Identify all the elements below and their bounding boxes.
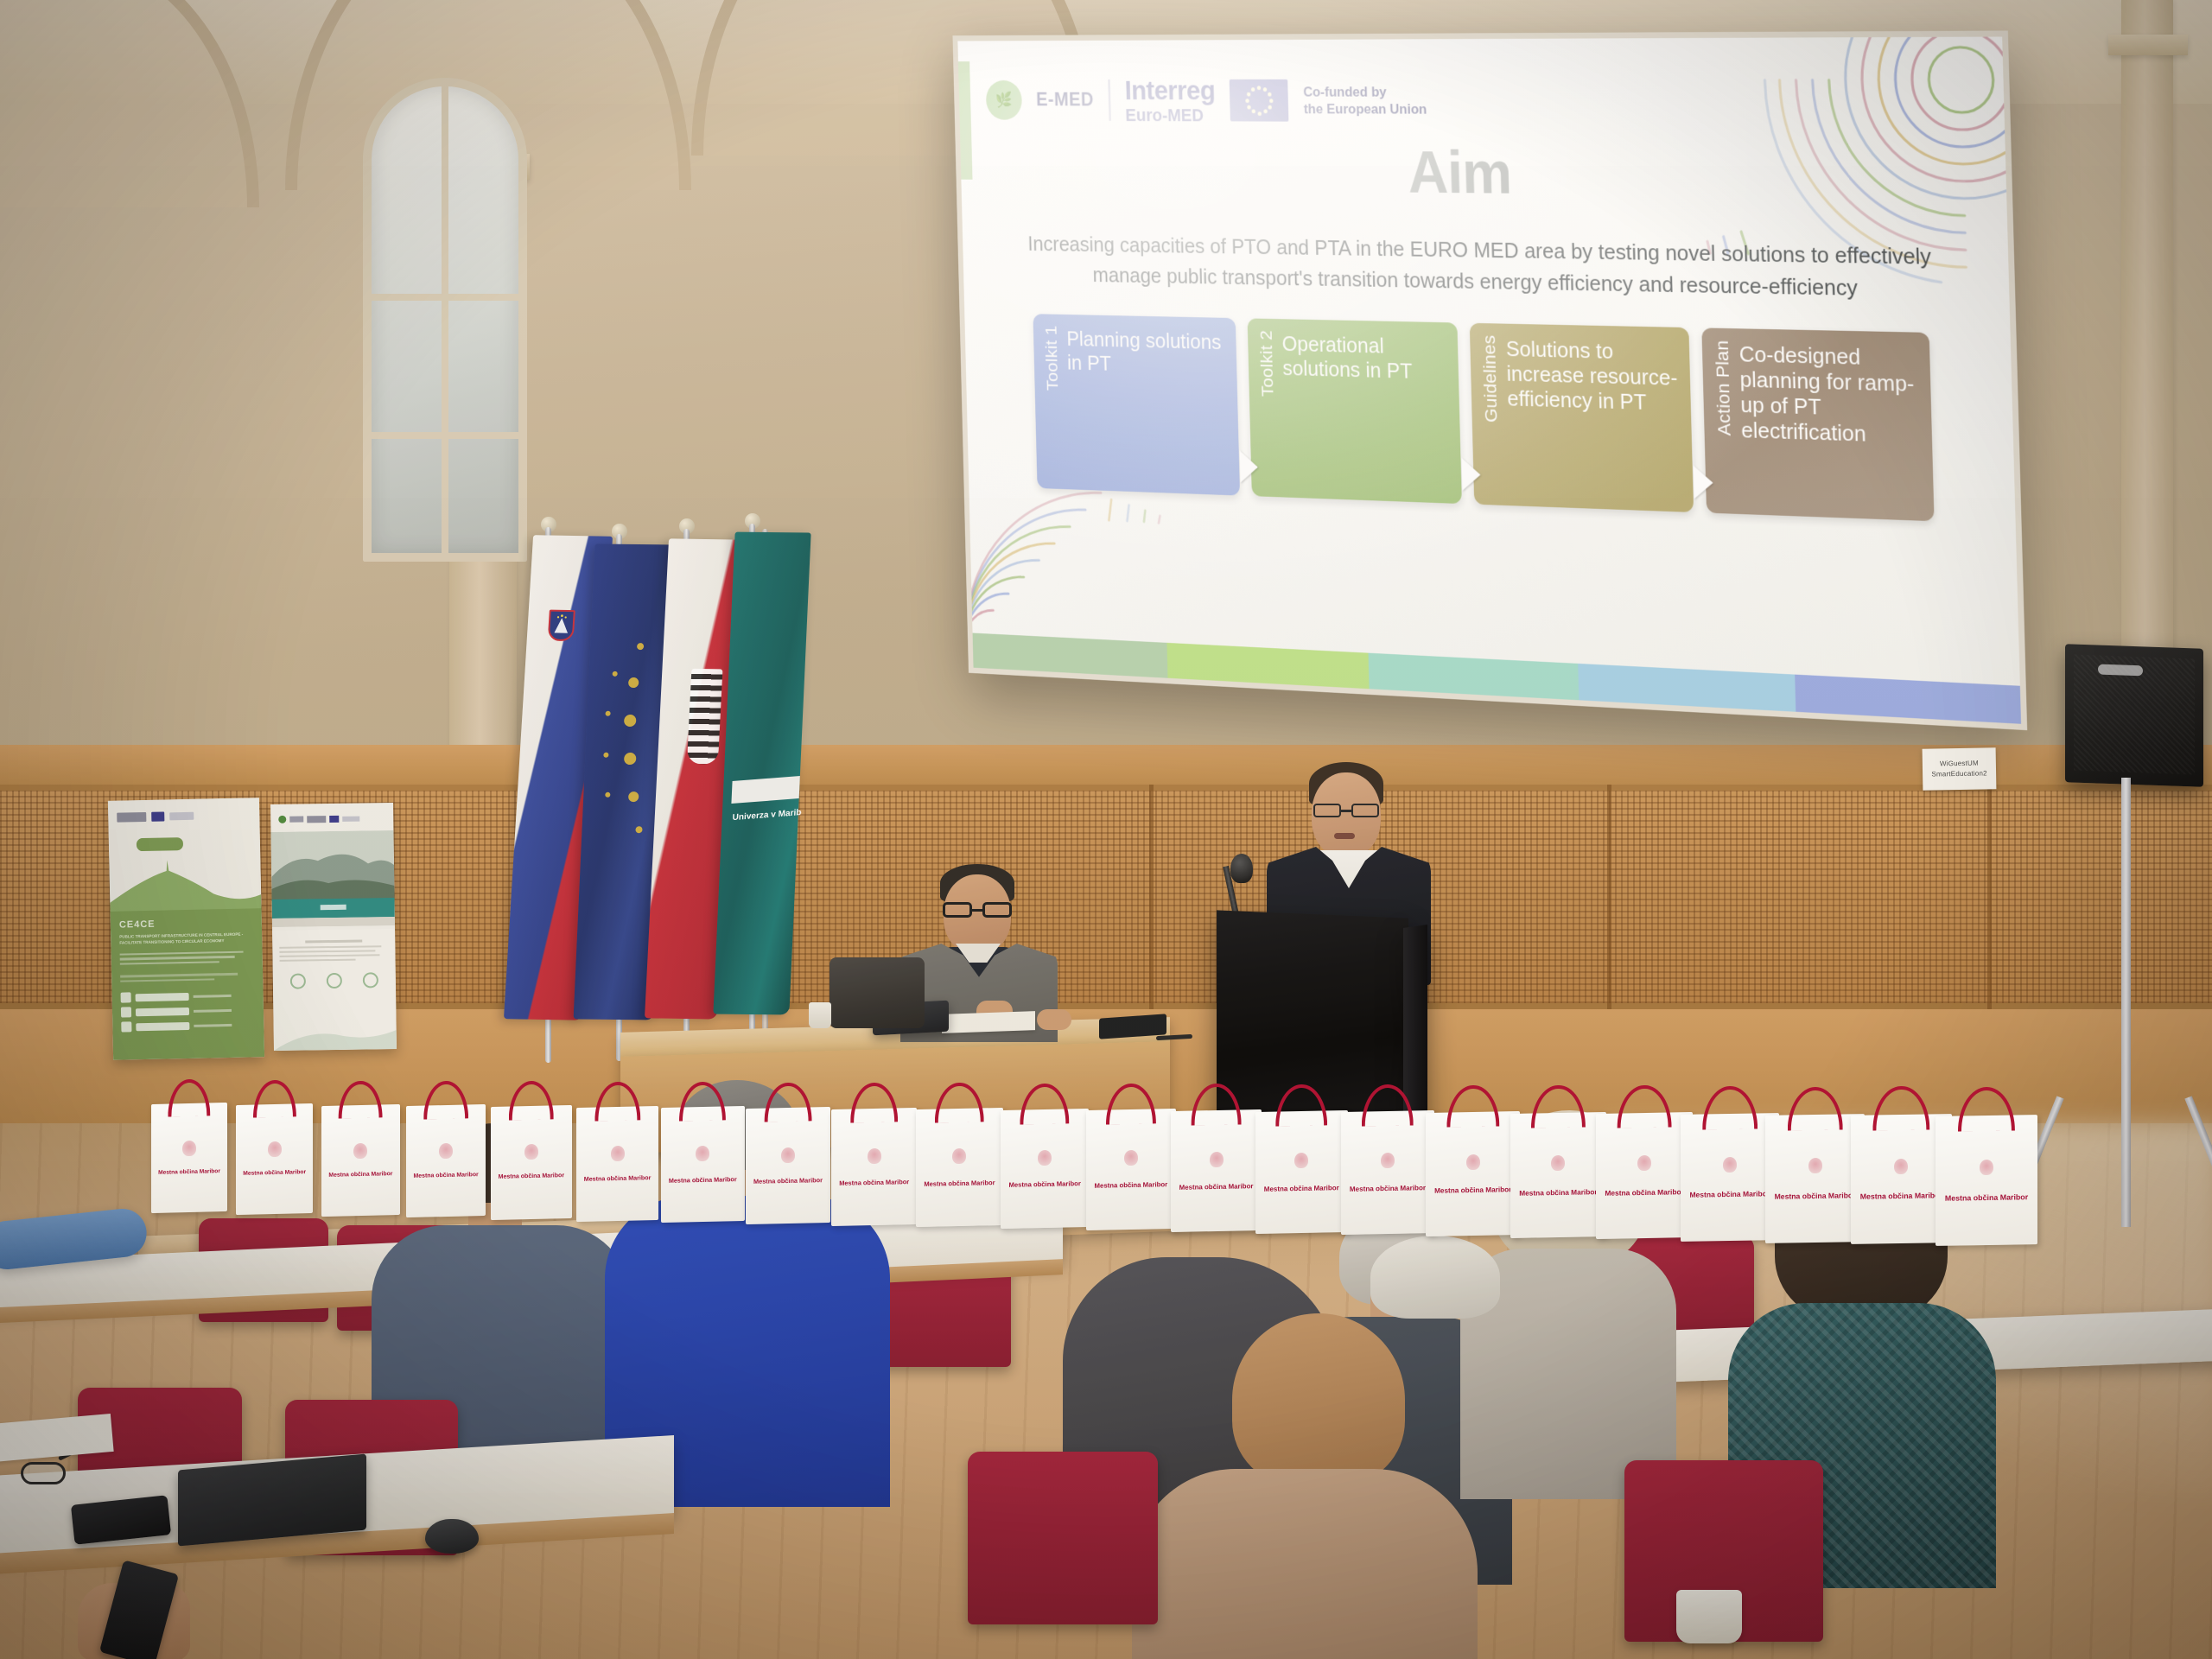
panel-seam-d [1987, 785, 1992, 1009]
um-logo-band [731, 776, 799, 804]
maribor-crest-icon [696, 1146, 709, 1161]
gift-bag-brand: Mestna občina Maribor [1689, 1189, 1770, 1199]
panel-seam-c [1607, 785, 1611, 1009]
presenter-glasses [1312, 804, 1381, 817]
gift-bag: Mestna občina Maribor [916, 1108, 1003, 1227]
gift-bag-brand: Mestna občina Maribor [1179, 1182, 1254, 1192]
gift-bag-brand: Mestna občina Maribor [669, 1175, 737, 1185]
head-table-cup [809, 1002, 831, 1028]
maribor-crest-icon [952, 1148, 966, 1164]
desk-cup-right [1676, 1590, 1742, 1643]
process-step-3-text: Solutions to increase resource-efficienc… [1506, 335, 1681, 416]
logo-divider [1108, 79, 1111, 121]
gift-bag: Mestna občina Maribor [491, 1105, 572, 1220]
gift-bag-brand: Mestna občina Maribor [924, 1179, 995, 1188]
moderator-hand-right [1037, 1009, 1071, 1030]
eu-star [1247, 92, 1250, 96]
microphone-icon [1230, 854, 1253, 883]
presentation-slide: 🌿 E-MED Interreg Euro-MED Co-funded by t… [957, 37, 2021, 724]
eu-star [1268, 92, 1271, 96]
gift-bag: Mestna občina Maribor [1510, 1112, 1606, 1238]
eu-star [1245, 99, 1249, 103]
emed-leaf-icon: 🌿 [986, 80, 1022, 120]
maribor-crest-icon [867, 1147, 880, 1163]
gift-bag-brand: Mestna občina Maribor [414, 1172, 479, 1179]
process-step-1-label: Toolkit 1 [1042, 325, 1063, 391]
maribor-crest-icon [268, 1141, 282, 1157]
gift-bag-brand: Mestna občina Maribor [753, 1176, 823, 1185]
eu-star [1247, 105, 1250, 109]
eu-star [1269, 99, 1273, 103]
conference-room-photo: 🌿 E-MED Interreg Euro-MED Co-funded by t… [0, 0, 2212, 1659]
strip-segment-2 [1167, 643, 1370, 689]
eu-star [1263, 110, 1267, 114]
gift-bag-brand: Mestna občina Maribor [839, 1178, 909, 1187]
maribor-crest-icon [1466, 1154, 1480, 1170]
gift-bag-brand: Mestna občina Maribor [583, 1174, 651, 1183]
poster-ce4ce: CE4CE PUBLIC TRANSPORT INFRASTRUCTURE IN… [108, 798, 264, 1060]
gift-bag-brand: Mestna občina Maribor [1434, 1185, 1511, 1195]
eu-funding-line1: Co-funded by [1303, 83, 1427, 100]
interreg-programme: Euro-MED [1125, 106, 1216, 124]
gift-bag: Mestna občina Maribor [1935, 1115, 2037, 1246]
maribor-crest-icon [1381, 1154, 1395, 1169]
poster-landscape-logos [278, 815, 359, 823]
gift-bag-brand: Mestna občina Maribor [499, 1173, 564, 1180]
strip-segment-5 [1795, 675, 2021, 724]
gift-bag: Mestna občina Maribor [831, 1107, 917, 1225]
presenter-mouth [1334, 833, 1355, 839]
slovenia-coat-of-arms [548, 610, 575, 642]
gift-bag-brand: Mestna občina Maribor [1350, 1185, 1426, 1194]
gift-bag: Mestna občina Maribor [1086, 1109, 1176, 1230]
gift-bag: Mestna občina Maribor [1171, 1109, 1262, 1232]
poster-ce4ce-body: CE4CE PUBLIC TRANSPORT INFRASTRUCTURE IN… [111, 908, 265, 1060]
maribor-crest-icon [1894, 1159, 1908, 1174]
maribor-crest-icon [1980, 1160, 1993, 1175]
process-step-4: Action PlanCo-designed planning for ramp… [1701, 327, 1935, 521]
gift-bag: Mestna občina Maribor [1426, 1111, 1520, 1236]
panel-seam-b [1149, 785, 1154, 1009]
maribor-coat-of-arms [687, 669, 723, 765]
maribor-crest-icon [1552, 1155, 1566, 1171]
strip-segment-1 [973, 633, 1168, 678]
gift-bag-brand: Mestna občina Maribor [1094, 1181, 1167, 1191]
maribor-crest-icon [610, 1145, 624, 1160]
gift-bag: Mestna občina Maribor [321, 1104, 400, 1217]
gift-bag-brand: Mestna občina Maribor [1605, 1188, 1684, 1198]
gift-bag-brand: Mestna občina Maribor [1264, 1183, 1339, 1192]
emed-label: E-MED [1036, 89, 1094, 111]
process-step-2-text: Operational solutions in PT [1281, 330, 1449, 385]
pa-loudspeaker [2065, 644, 2203, 787]
gift-bag: Mestna občina Maribor [1596, 1112, 1693, 1239]
poster-ce4ce-pill [137, 837, 183, 851]
eu-star [1257, 86, 1261, 90]
eyeglasses [21, 1457, 107, 1488]
wifi-ssid: WiGuestUM [1940, 759, 1979, 770]
gift-bag: Mestna občina Maribor [236, 1103, 313, 1215]
hall-window [363, 78, 527, 562]
maribor-crest-icon [524, 1144, 538, 1160]
process-chevron-row: Toolkit 1Planning solutions in PTToolkit… [1033, 314, 1934, 521]
wifi-info-sign: WiGuestUM SmartEducation2 [1923, 747, 1997, 790]
gift-bag: Mestna občina Maribor [151, 1103, 227, 1213]
gift-bag-brand: Mestna občina Maribor [1775, 1191, 1856, 1201]
gift-bag: Mestna občina Maribor [746, 1107, 830, 1224]
poster-landscape [270, 803, 397, 1051]
eu-star [1263, 87, 1267, 92]
eu-funding-text: Co-funded by the European Union [1303, 83, 1427, 118]
slide-logo-bar: 🌿 E-MED Interreg Euro-MED Co-funded by t… [985, 72, 1427, 129]
audience-member-8 [1331, 1236, 1538, 1529]
gift-bag-brand: Mestna občina Maribor [1945, 1192, 2028, 1203]
audience-8-hair [1370, 1236, 1500, 1319]
maribor-crest-icon [1210, 1151, 1224, 1166]
maribor-crest-icon [1038, 1149, 1052, 1165]
gift-bag: Mestna občina Maribor [1681, 1113, 1779, 1241]
process-step-4-text: Co-designed planning for ramp-up of PT e… [1738, 340, 1922, 448]
gift-bag-brand: Mestna občina Maribor [1009, 1179, 1081, 1189]
gift-bag: Mestna občina Maribor [1255, 1110, 1348, 1234]
process-step-3: GuidelinesSolutions to increase resource… [1470, 323, 1694, 512]
maribor-crest-icon [1808, 1158, 1822, 1173]
gift-bag-brand: Mestna občina Maribor [1859, 1192, 1942, 1202]
poster-ce4ce-title: CE4CE [119, 917, 253, 930]
eu-star [1252, 110, 1255, 114]
wainscot-rail [0, 745, 2212, 785]
process-step-2: Toolkit 2Operational solutions in PT [1247, 318, 1462, 504]
moderator-glasses [942, 902, 1013, 918]
maribor-crest-icon [1637, 1156, 1651, 1172]
pilaster-capital-right [2108, 35, 2188, 55]
gift-bag-brand: Mestna občina Maribor [244, 1169, 307, 1177]
process-step-4-label: Action Plan [1711, 340, 1734, 435]
computer-mouse [425, 1519, 479, 1554]
process-step-1-text: Planning solutions in PT [1066, 326, 1228, 378]
interreg-wordmark: Interreg [1124, 77, 1215, 105]
chair-front-3 [968, 1452, 1158, 1624]
poster-landscape-photo [270, 830, 395, 927]
interreg-logo: Interreg Euro-MED [1124, 77, 1216, 124]
strip-segment-4 [1578, 664, 1796, 712]
slide-title: Aim [960, 137, 2007, 213]
maribor-crest-icon [1723, 1157, 1737, 1173]
eu-flag-icon [1230, 79, 1289, 122]
gift-bag: Mestna občina Maribor [661, 1106, 745, 1223]
poster-ce4ce-logos [117, 811, 194, 823]
poster-ce4ce-paragraph [120, 950, 255, 982]
gift-bag-brand: Mestna občina Maribor [158, 1168, 220, 1176]
poster-ce4ce-stats [121, 990, 256, 1033]
maribor-crest-icon [353, 1142, 367, 1158]
head-table-bag [829, 957, 925, 1028]
eu-funding-line2: the European Union [1304, 100, 1427, 118]
process-step-1: Toolkit 1Planning solutions in PT [1033, 314, 1239, 495]
poster-ce4ce-subtitle: PUBLIC TRANSPORT INFRASTRUCTURE IN CENTR… [119, 931, 253, 946]
slide-body-text: Increasing capacities of PTO and PTA in … [1014, 229, 1948, 306]
maribor-crest-icon [439, 1143, 453, 1159]
eu-star [1257, 111, 1261, 116]
head-table-papers [942, 1011, 1035, 1033]
gift-bag-brand: Mestna občina Maribor [1520, 1186, 1598, 1197]
maribor-crest-icon [781, 1147, 795, 1162]
um-flag-text: Univerza v Mariboru [732, 808, 802, 823]
maribor-crest-icon [1295, 1153, 1309, 1168]
wifi-network-2: SmartEducation2 [1931, 768, 1987, 779]
strip-segment-3 [1369, 653, 1579, 701]
maribor-crest-icon [1124, 1150, 1138, 1166]
gift-bag: Mestna občina Maribor [1001, 1109, 1089, 1229]
gift-bag: Mestna občina Maribor [406, 1104, 486, 1218]
process-step-3-label: Guidelines [1479, 334, 1502, 423]
eu-star [1268, 105, 1271, 109]
speaker-tripod-pole [2121, 778, 2131, 1227]
gift-bag: Mestna občina Maribor [576, 1105, 658, 1221]
maribor-crest-icon [182, 1141, 196, 1156]
gift-bag: Mestna občina Maribor [1341, 1110, 1434, 1235]
projection-screen: 🌿 E-MED Interreg Euro-MED Co-funded by t… [952, 30, 2027, 730]
process-step-2-label: Toolkit 2 [1256, 330, 1278, 397]
eu-star [1251, 87, 1255, 92]
speaker-grille [2074, 655, 2195, 775]
gift-bag-brand: Mestna občina Maribor [328, 1171, 392, 1179]
poster-landscape-body [272, 929, 397, 1051]
